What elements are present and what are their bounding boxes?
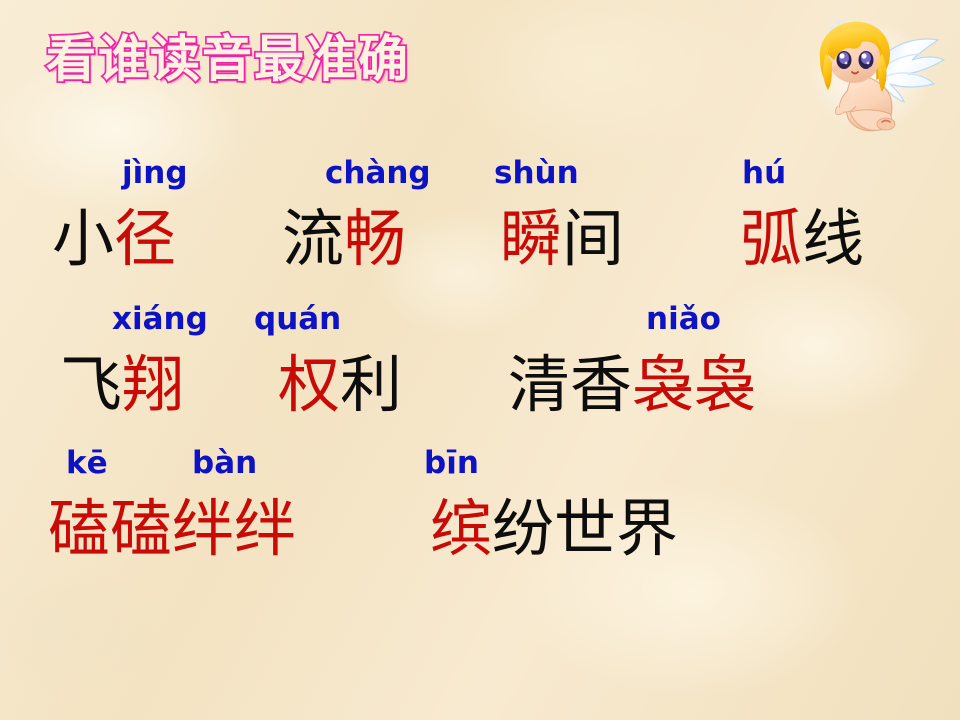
page-title: 看谁读音最准确: [46, 34, 410, 84]
pinyin-ke: kē: [66, 448, 108, 479]
hanzi-char: 磕: [48, 496, 110, 562]
hanzi-liuchang: 流畅: [282, 206, 406, 272]
hanzi-char: 缤: [430, 496, 492, 562]
hanzi-char: 间: [562, 206, 624, 272]
word-row-3: 磕磕绊绊 kē bàn 缤纷世界 bīn: [0, 442, 960, 562]
hanzi-binfenshijie: 缤纷世界: [430, 496, 678, 562]
pinyin-shun: shùn: [494, 158, 579, 189]
pinyin-quan: quán: [254, 304, 341, 335]
hanzi-char: 线: [802, 206, 864, 272]
hanzi-char: 弧: [740, 206, 802, 272]
hanzi-feixiang: 飞翔: [60, 352, 184, 418]
hanzi-char: 瞬: [500, 206, 562, 272]
angel-cherub-clipart: [798, 14, 948, 142]
hanzi-char: 香: [570, 352, 632, 418]
pinyin-bin: bīn: [424, 448, 479, 479]
hanzi-char: 飞: [60, 352, 122, 418]
hanzi-char: 绊: [172, 496, 234, 562]
hanzi-char: 磕: [110, 496, 172, 562]
hanzi-char: 绊: [234, 496, 296, 562]
word-row-1: 小径 jìng 流畅 chàng 瞬间 shùn 弧线 hú: [0, 152, 960, 272]
word-row-2: 飞翔 xiáng 权利 quán 清香袅袅 niǎo: [0, 298, 960, 418]
hanzi-char: 利: [340, 352, 402, 418]
hanzi-char: 清: [508, 352, 570, 418]
pinyin-jing: jìng: [122, 158, 188, 189]
hanzi-char: 流: [282, 206, 344, 272]
hanzi-char: 权: [278, 352, 340, 418]
hanzi-kekebanban: 磕磕绊绊: [48, 496, 296, 562]
hanzi-xiaojing: 小径: [52, 206, 176, 272]
hanzi-char: 小: [52, 206, 114, 272]
pinyin-hu: hú: [742, 158, 786, 189]
hanzi-shunjian: 瞬间: [500, 206, 624, 272]
hanzi-char: 翔: [122, 352, 184, 418]
hanzi-char: 袅: [632, 352, 694, 418]
pinyin-xiang: xiáng: [112, 304, 208, 335]
hanzi-char: 纷: [492, 496, 554, 562]
pinyin-ban: bàn: [192, 448, 257, 479]
hanzi-char: 世: [554, 496, 616, 562]
hanzi-char: 畅: [344, 206, 406, 272]
hanzi-quanli: 权利: [278, 352, 402, 418]
hanzi-char: 界: [616, 496, 678, 562]
hanzi-char: 径: [114, 206, 176, 272]
hanzi-char: 袅: [694, 352, 756, 418]
pinyin-niao: niǎo: [646, 304, 721, 335]
hanzi-qingxiangniaoniao: 清香袅袅: [508, 352, 756, 418]
pinyin-chang: chàng: [325, 158, 431, 189]
hanzi-huxian: 弧线: [740, 206, 864, 272]
slide-canvas: 看谁读音最准确 小径 jìng 流畅 chàng 瞬间 shùn 弧线 hú: [0, 0, 960, 720]
